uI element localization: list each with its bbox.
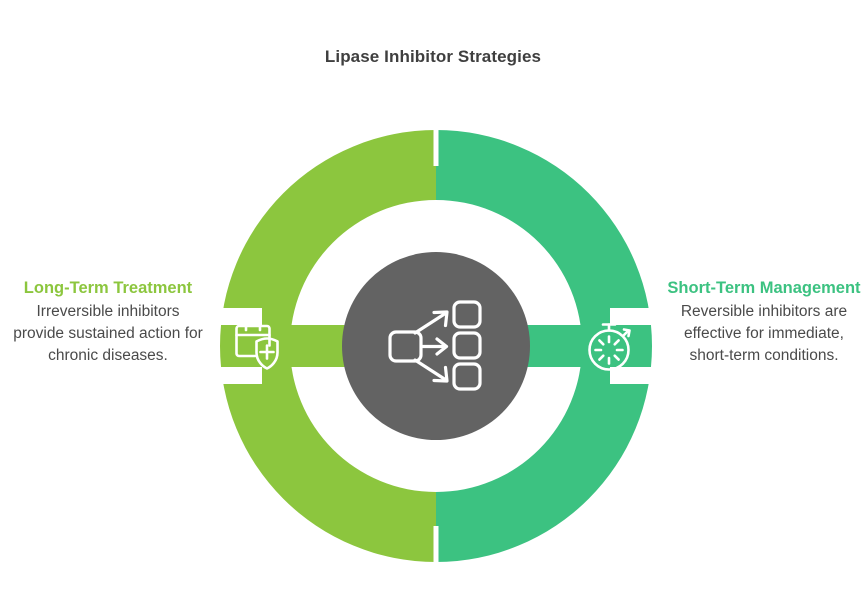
donut-diagram: Long-Term Treatment Irreversible inhibit… <box>0 0 866 614</box>
stopwatch-icon <box>583 318 639 374</box>
calendar-shield-plus-icon <box>231 318 287 374</box>
segment-left-heading: Long-Term Treatment <box>10 277 206 300</box>
segment-left-body: Irreversible inhibitors provide sustaine… <box>10 301 206 367</box>
split-distribute-icon <box>387 300 483 392</box>
segment-right-heading: Short-Term Management <box>666 277 862 300</box>
segment-right-body: Reversible inhibitors are effective for … <box>666 301 862 367</box>
segment-left-text-panel: Long-Term Treatment Irreversible inhibit… <box>10 277 206 367</box>
segment-right-text-panel: Short-Term Management Reversible inhibit… <box>666 277 862 367</box>
